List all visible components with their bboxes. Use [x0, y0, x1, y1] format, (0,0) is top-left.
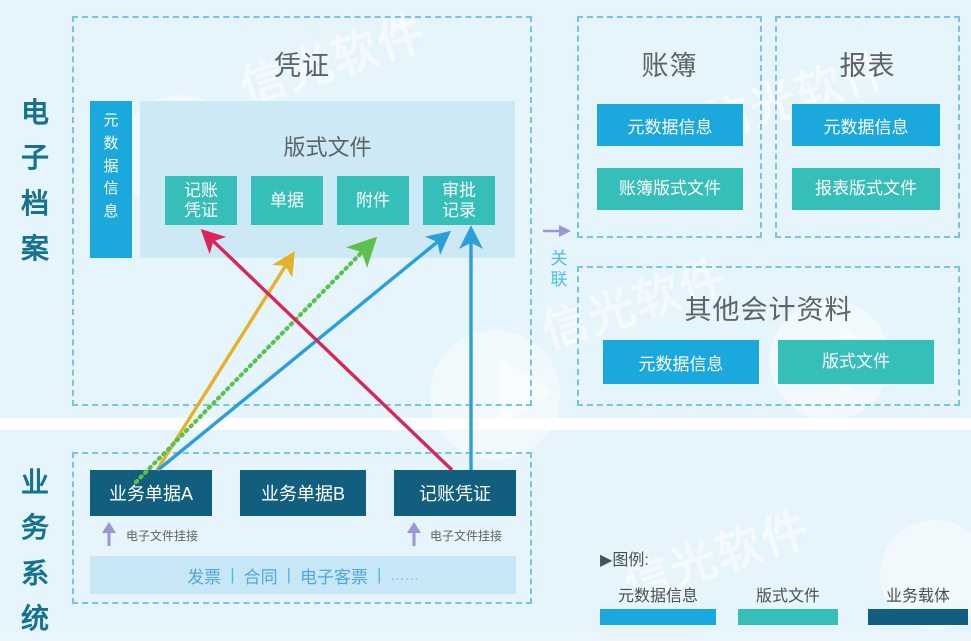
voucher-metadata-bar[interactable]: 元 数 据 信 息: [90, 101, 132, 258]
metadata-char: 数: [90, 133, 132, 156]
relation-arrow-icon: [542, 222, 572, 240]
doc-separator: |: [230, 565, 234, 585]
chip-line: 记录: [442, 201, 476, 221]
report-format-chip[interactable]: 报表版式文件: [792, 168, 940, 210]
business-label-char: 统: [10, 596, 60, 641]
business-label-char: 业: [10, 460, 60, 505]
doc-item-ellipsis: ......: [390, 565, 418, 585]
legend-label: 业务载体: [868, 582, 968, 606]
attach-arrow-left-icon: [101, 522, 117, 546]
panel-other-accounting: [577, 266, 960, 406]
business-card-doc-a[interactable]: 业务单据A: [90, 470, 212, 516]
doc-item-contract[interactable]: 合同: [244, 563, 278, 588]
report-title: 报表: [775, 44, 960, 83]
chip-approval-record[interactable]: 审批 记录: [423, 176, 495, 225]
legend-item-business: 业务载体: [868, 582, 968, 625]
ledger-format-chip[interactable]: 账簿版式文件: [597, 168, 743, 210]
voucher-title: 凭证: [72, 44, 532, 83]
diagram-canvas: 信光软件 信光软件 信光软件 信光软件 电 子 档 案 业 务 系 统 凭证 元…: [0, 0, 971, 633]
legend-swatch-format: [738, 609, 838, 625]
other-format-chip[interactable]: 版式文件: [778, 340, 934, 384]
chip-line: 凭证: [184, 201, 218, 221]
ledger-title: 账簿: [577, 44, 762, 83]
business-label-char: 系: [10, 551, 60, 596]
doc-separator: |: [287, 565, 291, 585]
metadata-char: 元: [90, 110, 132, 133]
section-label-archive: 电 子 档 案: [10, 90, 60, 271]
archive-label-char: 档: [10, 181, 60, 226]
doc-separator: |: [377, 565, 381, 585]
attach-label-left: 电子文件挂接: [126, 527, 198, 544]
doc-item-invoice[interactable]: 发票: [187, 563, 221, 588]
chip-line: 记账: [184, 181, 218, 201]
chip-line: 单据: [270, 191, 304, 211]
relation-label: 关 联: [546, 248, 572, 291]
attach-label-right: 电子文件挂接: [430, 527, 502, 544]
band-divider: [0, 418, 971, 430]
chip-bookkeeping-voucher[interactable]: 记账 凭证: [165, 176, 237, 225]
legend-item-metadata: 元数据信息: [600, 582, 716, 625]
chip-line: 审批: [442, 181, 476, 201]
metadata-char: 据: [90, 156, 132, 179]
legend-heading: ▶图例:: [600, 546, 649, 570]
relation-label-char: 关: [546, 248, 572, 269]
doc-item-eticket[interactable]: 电子客票: [300, 563, 368, 588]
metadata-char: 信: [90, 178, 132, 201]
report-metadata-chip[interactable]: 元数据信息: [792, 104, 940, 146]
legend-item-format: 版式文件: [738, 582, 838, 625]
legend-label: 元数据信息: [600, 582, 716, 606]
other-title: 其他会计资料: [577, 288, 960, 327]
legend-marker-icon: ▶: [600, 552, 612, 569]
chip-attachment[interactable]: 附件: [337, 176, 409, 225]
archive-label-char: 案: [10, 226, 60, 271]
source-document-strip: 发票 | 合同 | 电子客票 | ......: [90, 556, 516, 594]
voucher-format-title: 版式文件: [140, 130, 515, 162]
legend-swatch-metadata: [600, 609, 716, 625]
legend-swatch-business: [868, 609, 968, 625]
relation-label-char: 联: [546, 269, 572, 290]
attach-arrow-right-icon: [406, 522, 422, 546]
metadata-char: 息: [90, 201, 132, 224]
business-label-char: 务: [10, 505, 60, 550]
other-metadata-chip[interactable]: 元数据信息: [603, 340, 759, 384]
archive-label-char: 子: [10, 135, 60, 180]
archive-label-char: 电: [10, 90, 60, 135]
business-card-voucher[interactable]: 记账凭证: [394, 470, 516, 516]
business-card-doc-b[interactable]: 业务单据B: [240, 470, 366, 516]
ledger-metadata-chip[interactable]: 元数据信息: [597, 104, 743, 146]
legend-heading-text: 图例:: [612, 552, 648, 569]
chip-line: 附件: [356, 191, 390, 211]
legend-label: 版式文件: [738, 582, 838, 606]
section-label-business: 业 务 系 统: [10, 460, 60, 641]
chip-document[interactable]: 单据: [251, 176, 323, 225]
